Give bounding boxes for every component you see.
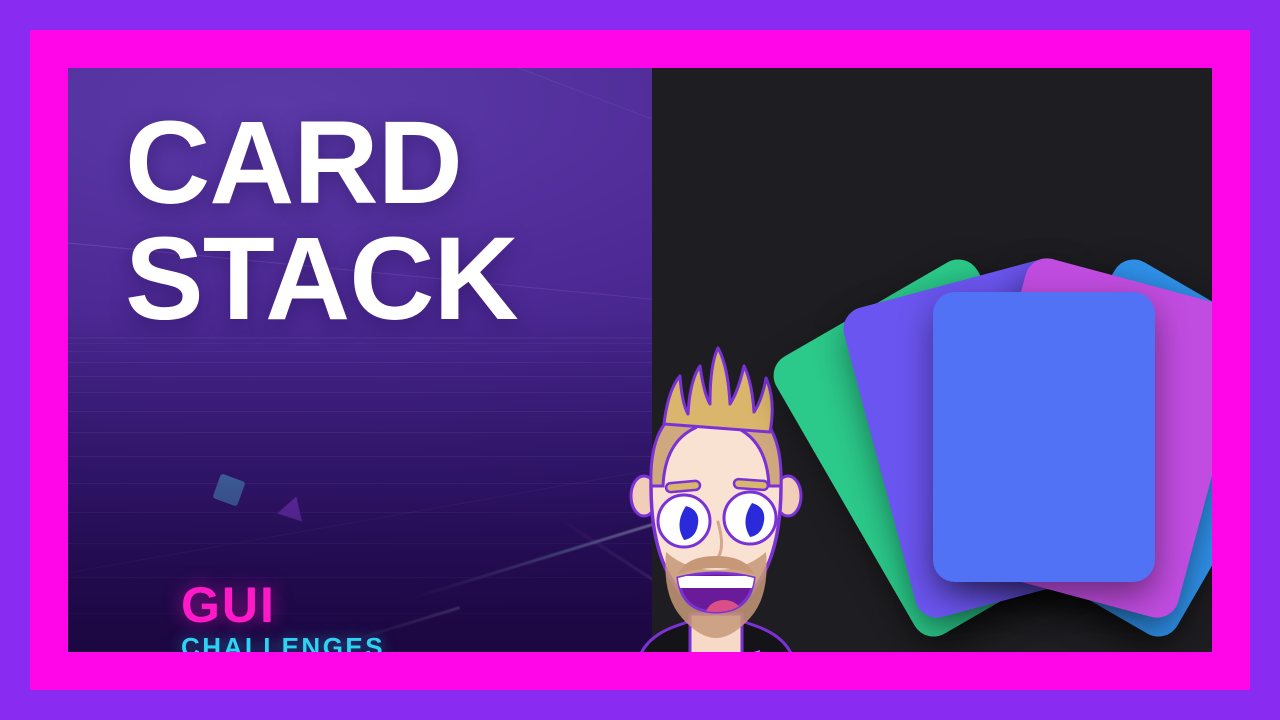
avatar-eyebrow-left xyxy=(666,481,701,493)
avatar-hair-spikes xyxy=(664,348,772,432)
content-area: CARD STACK GUI CHALLENGES xyxy=(68,68,1212,652)
thumbnail-canvas: CARD STACK GUI CHALLENGES xyxy=(0,0,1280,720)
avatar-teeth xyxy=(676,576,758,588)
avatar-eyebrow-right xyxy=(734,479,769,490)
neon-border: CARD STACK GUI CHALLENGES xyxy=(30,30,1250,690)
card-front[interactable] xyxy=(933,292,1155,582)
outer-frame: CARD STACK GUI CHALLENGES xyxy=(0,0,1280,720)
